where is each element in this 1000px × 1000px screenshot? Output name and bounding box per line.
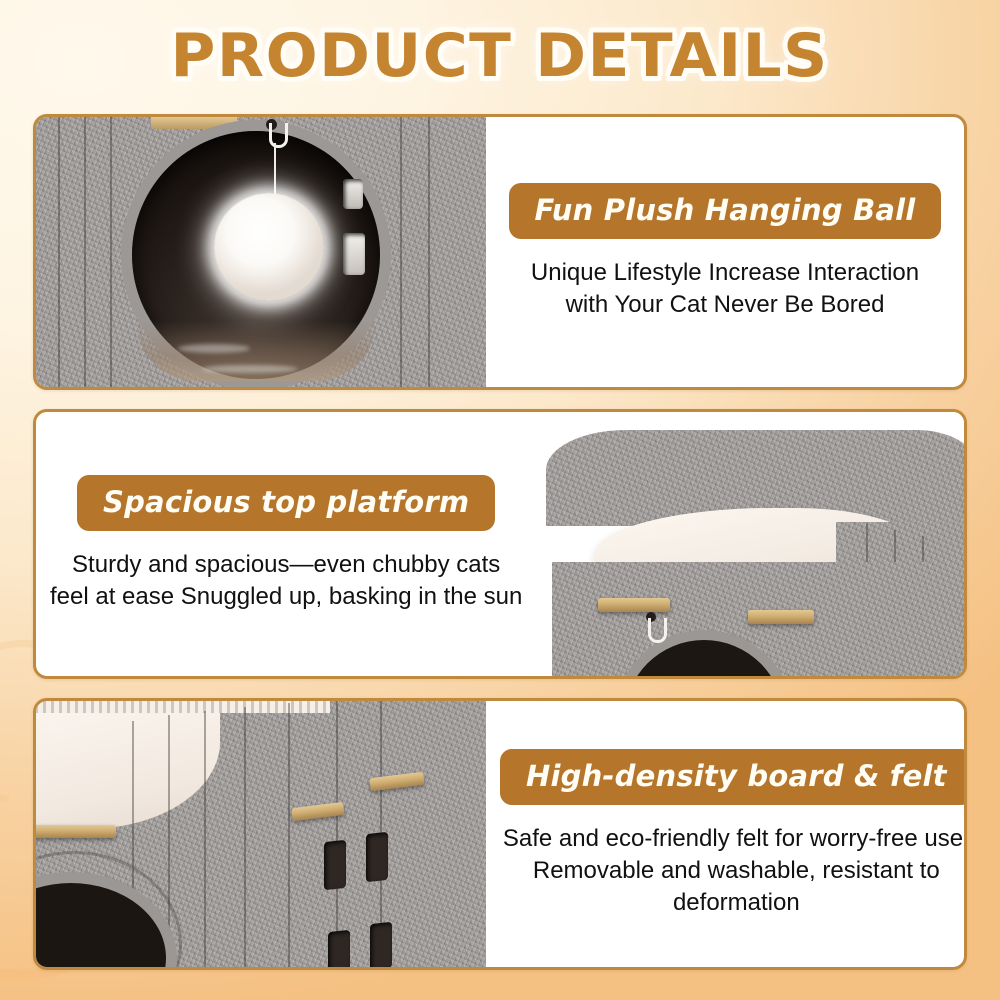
felt-rib — [428, 117, 430, 387]
description-line: with Your Cat Never Be Bored — [531, 289, 919, 321]
window-cutout — [343, 233, 365, 275]
window-cutout — [324, 840, 346, 890]
window-cutout — [366, 832, 388, 882]
stitched-trim — [36, 701, 330, 713]
felt-rib — [58, 117, 60, 387]
felt-rib — [84, 117, 86, 387]
felt-rib — [400, 117, 402, 387]
window-cutout — [370, 922, 392, 967]
page-title-wrapper: PRODUCT DETAILS — [0, 22, 1000, 90]
panel-1-copy: Fun Plush Hanging Ball Unique Lifestyle … — [486, 117, 964, 387]
window-cutout — [328, 930, 350, 967]
feature-panel-3: High-density board & felt Safe and eco-f… — [33, 698, 967, 970]
panel-2-copy: Spacious top platform Sturdy and spaciou… — [36, 412, 536, 676]
product-photo-hanging-ball — [36, 117, 486, 387]
description-line: Safe and eco-friendly felt for worry-fre… — [503, 823, 967, 855]
panel-1-description: Unique Lifestyle Increase Interaction wi… — [531, 257, 919, 321]
wooden-top-ledge — [151, 117, 237, 129]
plush-pom-pom-ball — [214, 193, 324, 301]
product-photo-top-platform — [536, 412, 967, 676]
wooden-ledge — [598, 598, 670, 612]
wooden-ledge — [36, 825, 116, 838]
felt-rib — [336, 701, 338, 967]
description-line: deformation — [503, 887, 967, 919]
hook-icon — [269, 123, 288, 148]
panel-3-description: Safe and eco-friendly felt for worry-fre… — [503, 823, 967, 919]
description-line: Unique Lifestyle Increase Interaction — [531, 257, 919, 289]
felt-rib — [244, 707, 246, 967]
felt-rib — [204, 711, 206, 967]
felt-rib — [288, 703, 290, 967]
description-line: feel at ease Snuggled up, basking in the… — [50, 581, 522, 613]
hook-icon — [648, 618, 667, 643]
felt-rib — [110, 117, 112, 387]
panel-1-badge: Fun Plush Hanging Ball — [509, 183, 942, 239]
feature-panel-2: Spacious top platform Sturdy and spaciou… — [33, 409, 967, 679]
floor-highlight — [202, 365, 298, 373]
feature-panel-1: Fun Plush Hanging Ball Unique Lifestyle … — [33, 114, 967, 390]
panel-2-badge: Spacious top platform — [77, 475, 495, 531]
description-line: Removable and washable, resistant to — [503, 855, 967, 887]
panel-3-copy: High-density board & felt Safe and eco-f… — [486, 701, 967, 967]
wooden-ledge — [966, 604, 967, 618]
panel-3-badge: High-density board & felt — [500, 749, 967, 805]
page-title: PRODUCT DETAILS — [171, 22, 829, 90]
product-photo-felt-board — [36, 701, 486, 967]
description-line: Sturdy and spacious—even chubby cats — [50, 549, 522, 581]
floor-highlight — [178, 344, 250, 353]
infographic-canvas: PRODUCT DETAILS Fun Plush Hanging Ball — [0, 0, 1000, 1000]
window-cutout — [343, 179, 363, 209]
panel-2-description: Sturdy and spacious—even chubby cats fee… — [50, 549, 522, 613]
wooden-ledge — [748, 610, 814, 624]
